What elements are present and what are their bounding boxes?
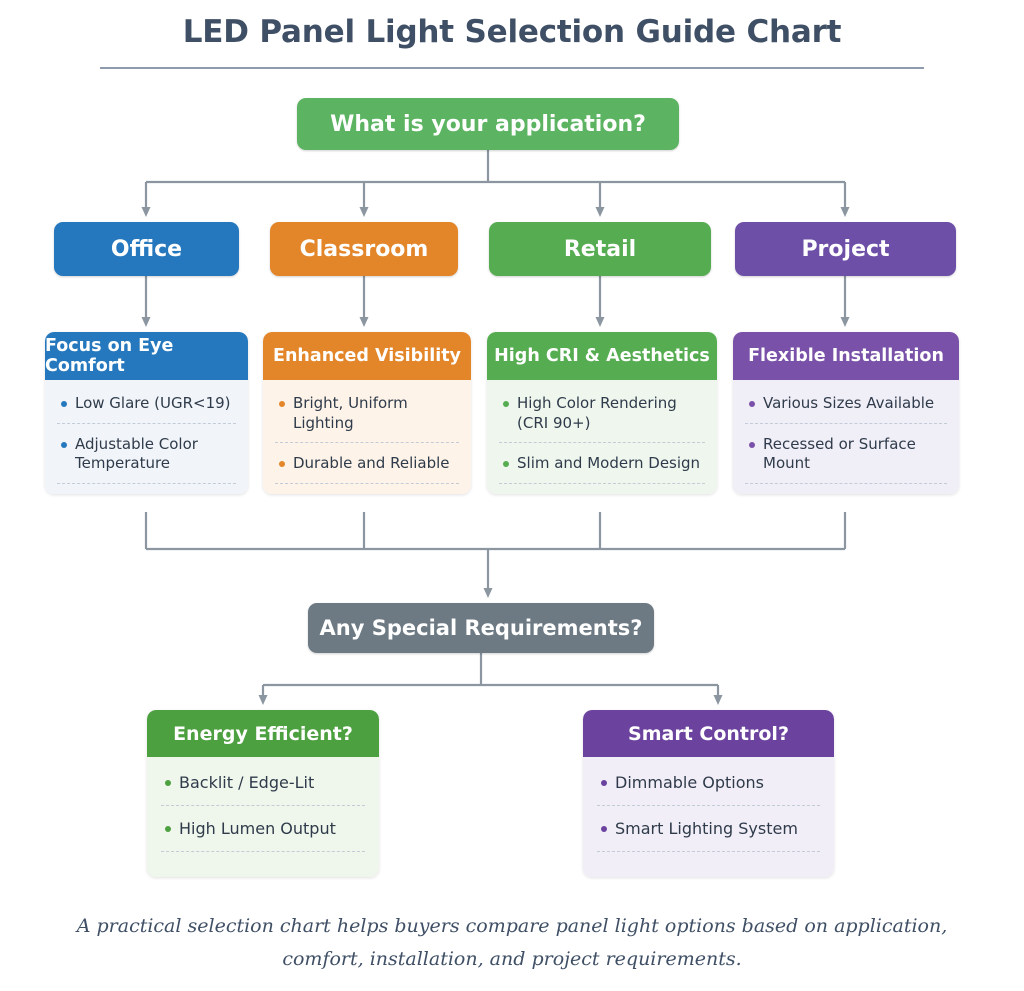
card-body-retail: High Color Rendering (CRI 90+) Slim and … — [487, 380, 717, 494]
list-item: Backlit / Edge-Lit — [161, 773, 365, 806]
card-body-smart-control: Dimmable Options Smart Lighting System — [583, 757, 834, 877]
card-energy-efficient[interactable]: Energy Efficient? Backlit / Edge-Lit Hig… — [147, 710, 379, 877]
list-item: Adjustable Color Temperature — [57, 435, 236, 484]
node-category-classroom[interactable]: Classroom — [270, 222, 458, 276]
bullet-dot-icon — [61, 401, 67, 407]
list-item: Dimmable Options — [597, 773, 820, 806]
list-item-label: Slim and Modern Design — [517, 454, 700, 474]
bullet-dot-icon — [61, 442, 67, 448]
list-item: High Lumen Output — [161, 819, 365, 852]
card-body-office: Low Glare (UGR<19) Adjustable Color Temp… — [45, 380, 248, 494]
card-retail[interactable]: High CRI & Aesthetics High Color Renderi… — [487, 332, 717, 494]
page-header: LED Panel Light Selection Guide Chart — [0, 14, 1024, 69]
list-item-label: High Color Rendering (CRI 90+) — [517, 394, 703, 433]
card-classroom[interactable]: Enhanced Visibility Bright, Uniform Ligh… — [263, 332, 471, 494]
list-item: Smart Lighting System — [597, 819, 820, 852]
card-header-office: Focus on Eye Comfort — [45, 332, 248, 380]
list-item: Durable and Reliable — [275, 454, 459, 484]
bullet-dot-icon — [279, 461, 285, 467]
caption-line-2: comfort, installation, and project requi… — [0, 943, 1024, 976]
list-item-label: Bright, Uniform Lighting — [293, 394, 457, 433]
list-item-label: Smart Lighting System — [615, 819, 798, 840]
list-item: Various Sizes Available — [745, 394, 947, 424]
node-category-retail[interactable]: Retail — [489, 222, 711, 276]
chart-caption: A practical selection chart helps buyers… — [0, 910, 1024, 977]
list-item-label: Durable and Reliable — [293, 454, 450, 474]
card-header-retail: High CRI & Aesthetics — [487, 332, 717, 380]
card-body-project: Various Sizes Available Recessed or Surf… — [733, 380, 959, 494]
caption-line-1: A practical selection chart helps buyers… — [0, 910, 1024, 943]
card-body-energy-efficient: Backlit / Edge-Lit High Lumen Output — [147, 757, 379, 877]
list-item: Bright, Uniform Lighting — [275, 394, 459, 443]
card-header-classroom: Enhanced Visibility — [263, 332, 471, 380]
list-item-label: Recessed or Surface Mount — [763, 435, 945, 474]
list-item: High Color Rendering (CRI 90+) — [499, 394, 705, 443]
card-project[interactable]: Flexible Installation Various Sizes Avai… — [733, 332, 959, 494]
card-header-project: Flexible Installation — [733, 332, 959, 380]
title-divider — [100, 67, 924, 69]
list-item: Recessed or Surface Mount — [745, 435, 947, 484]
page-title: LED Panel Light Selection Guide Chart — [0, 14, 1024, 50]
flowchart-canvas: LED Panel Light Selection Guide Chart Wh… — [0, 0, 1024, 991]
bullet-dot-icon — [749, 401, 755, 407]
bullet-dot-icon — [165, 826, 171, 832]
list-item-label: Backlit / Edge-Lit — [179, 773, 314, 794]
card-header-energy-efficient: Energy Efficient? — [147, 710, 379, 757]
bullet-dot-icon — [503, 461, 509, 467]
bullet-dot-icon — [749, 442, 755, 448]
bullet-dot-icon — [503, 401, 509, 407]
list-item-label: Adjustable Color Temperature — [75, 435, 234, 474]
list-item: Low Glare (UGR<19) — [57, 394, 236, 424]
node-category-office[interactable]: Office — [54, 222, 239, 276]
list-item: Slim and Modern Design — [499, 454, 705, 484]
list-item-label: Various Sizes Available — [763, 394, 934, 414]
node-special-requirements[interactable]: Any Special Requirements? — [308, 603, 654, 653]
node-category-project[interactable]: Project — [735, 222, 956, 276]
list-item-label: Low Glare (UGR<19) — [75, 394, 231, 414]
bullet-dot-icon — [601, 826, 607, 832]
card-header-smart-control: Smart Control? — [583, 710, 834, 757]
card-body-classroom: Bright, Uniform Lighting Durable and Rel… — [263, 380, 471, 494]
bullet-dot-icon — [601, 780, 607, 786]
list-item-label: High Lumen Output — [179, 819, 336, 840]
list-item-label: Dimmable Options — [615, 773, 764, 794]
node-root-question[interactable]: What is your application? — [297, 98, 679, 150]
card-office[interactable]: Focus on Eye Comfort Low Glare (UGR<19) … — [45, 332, 248, 494]
card-smart-control[interactable]: Smart Control? Dimmable Options Smart Li… — [583, 710, 834, 877]
bullet-dot-icon — [165, 780, 171, 786]
bullet-dot-icon — [279, 401, 285, 407]
